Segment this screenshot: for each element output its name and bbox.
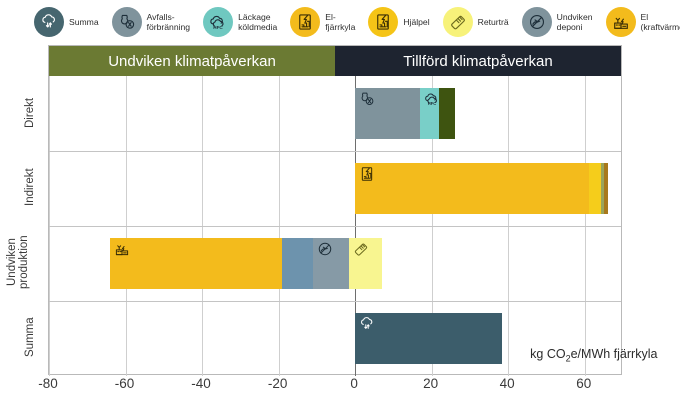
bar-row: HFC bbox=[49, 76, 621, 151]
svg-text:HFC: HFC bbox=[213, 25, 223, 30]
legend-item: Undviken deponi bbox=[522, 7, 593, 37]
legend-item: El (kraftvärme) bbox=[606, 7, 680, 37]
cloud-down-up-icon bbox=[34, 7, 64, 37]
wood-log-icon bbox=[353, 241, 369, 257]
legend-item-label: Undviken deponi bbox=[557, 12, 593, 32]
bar-segment bbox=[349, 238, 382, 289]
hfc-cloud-icon: HFC bbox=[203, 7, 233, 37]
y-label-undviken-produktion: Undviken produktion bbox=[6, 225, 46, 300]
chart-legend: Summa Avfalls- förbränning HFCLäckage kö… bbox=[0, 0, 680, 44]
legend-item-label: El (kraftvärme) bbox=[641, 12, 680, 32]
bar-segment bbox=[355, 163, 588, 214]
bar-row bbox=[49, 301, 621, 376]
legend-item-label: Hjälpel bbox=[403, 17, 429, 27]
x-tick-label: 40 bbox=[500, 376, 515, 391]
bar-segment bbox=[313, 238, 349, 289]
legend-item-label: Avfalls- förbränning bbox=[147, 12, 190, 32]
power-plant-doc-icon bbox=[368, 7, 398, 37]
legend-item: Hjälpel bbox=[368, 7, 429, 37]
hfc-cloud-icon: HFC bbox=[424, 91, 440, 107]
legend-item: Summa bbox=[34, 7, 99, 37]
bar-segment bbox=[110, 238, 282, 289]
x-tick-label: -20 bbox=[268, 376, 288, 391]
y-label-summa: Summa bbox=[24, 300, 36, 375]
bar-segment bbox=[355, 313, 502, 364]
x-tick-label: -40 bbox=[191, 376, 211, 391]
bar-segment bbox=[355, 88, 420, 139]
x-tick-label: -80 bbox=[38, 376, 58, 391]
bar-segment bbox=[589, 163, 602, 214]
legend-item: Returträ bbox=[443, 7, 509, 37]
chart-frame: Undviken klimatpåverkan Tillförd klimatp… bbox=[48, 45, 622, 375]
band-avoided-impact: Undviken klimatpåverkan bbox=[49, 46, 335, 76]
band-added-impact: Tillförd klimatpåverkan bbox=[335, 46, 621, 76]
bar-segment: HFC bbox=[420, 88, 439, 139]
x-axis: -80-60-40-200204060 bbox=[0, 376, 680, 398]
x-tick-label: 60 bbox=[576, 376, 591, 391]
legend-item-label: Returträ bbox=[478, 17, 509, 27]
unit-label: kg CO2e/MWh fjärrkyla bbox=[530, 347, 657, 364]
cloud-down-up-icon bbox=[359, 316, 375, 332]
plot-area: HFC bbox=[49, 76, 621, 376]
chp-plant-icon bbox=[114, 241, 130, 257]
legend-item-label: Läckage köldmedia bbox=[238, 12, 277, 32]
chp-plant-icon bbox=[606, 7, 636, 37]
section-header-band: Undviken klimatpåverkan Tillförd klimatp… bbox=[49, 46, 621, 76]
no-landfill-icon bbox=[522, 7, 552, 37]
bar-segment bbox=[439, 88, 454, 139]
waste-bag-icon bbox=[359, 91, 375, 107]
svg-text:HFC: HFC bbox=[428, 101, 436, 106]
legend-item-label: El-fjärrkyla bbox=[325, 12, 355, 32]
legend-item-label: Summa bbox=[69, 17, 99, 27]
waste-bag-icon bbox=[112, 7, 142, 37]
no-landfill-icon bbox=[317, 241, 333, 257]
bar-segment bbox=[604, 163, 608, 214]
bar-segment bbox=[282, 238, 313, 289]
x-tick-label: -60 bbox=[115, 376, 135, 391]
power-plant-doc-icon bbox=[359, 166, 375, 182]
wood-log-icon bbox=[443, 7, 473, 37]
x-tick-label: 20 bbox=[423, 376, 438, 391]
legend-item: HFCLäckage köldmedia bbox=[203, 7, 277, 37]
power-plant-doc-icon bbox=[290, 7, 320, 37]
legend-item: El-fjärrkyla bbox=[290, 7, 355, 37]
legend-item: Avfalls- förbränning bbox=[112, 7, 190, 37]
bar-row bbox=[49, 151, 621, 226]
unit-text-prefix: kg CO bbox=[530, 347, 565, 361]
unit-text-suffix: e/MWh fjärrkyla bbox=[571, 347, 658, 361]
y-label-direkt: Direkt bbox=[24, 75, 36, 150]
y-label-indirekt: Indirekt bbox=[24, 150, 36, 225]
bar-row bbox=[49, 226, 621, 301]
x-tick-label: 0 bbox=[350, 376, 358, 391]
